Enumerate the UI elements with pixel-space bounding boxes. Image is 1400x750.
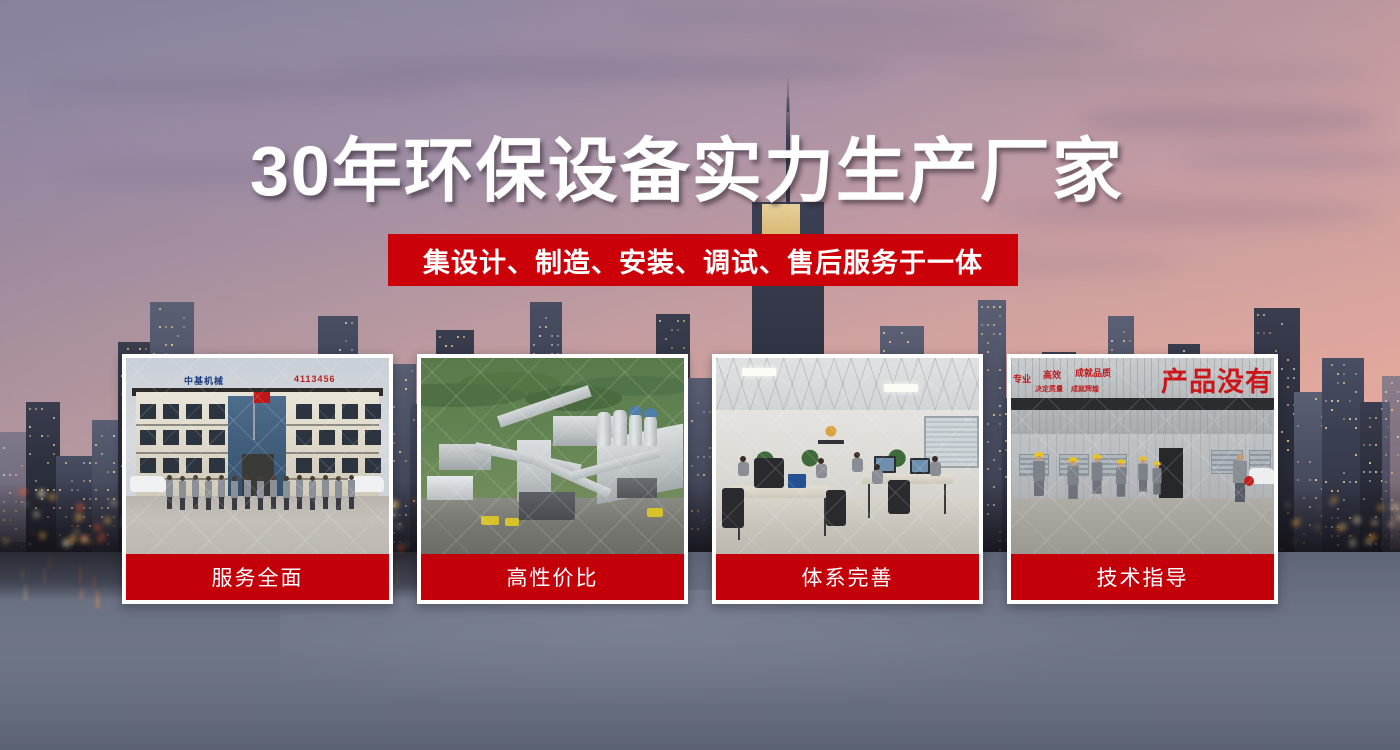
- ceiling-light: [742, 368, 776, 376]
- cloud-wisp: [780, 30, 1120, 56]
- silo-cap: [629, 406, 642, 415]
- cement-silo: [613, 410, 627, 446]
- office-worker: [852, 452, 863, 472]
- parked-car: [130, 476, 166, 492]
- feature-card[interactable]: 高性价比: [417, 354, 688, 604]
- factory-slogan-small: 决定质量: [1035, 384, 1063, 394]
- street-light-glow: [1389, 522, 1394, 527]
- plant-structure: [427, 476, 473, 500]
- cloud-wisp: [1080, 105, 1380, 135]
- factory-worker: [1067, 457, 1078, 499]
- loading-shed: [617, 478, 657, 498]
- street-light-glow: [1378, 505, 1383, 510]
- workshop-training-photo: 产品没有 专业 高效 成就品质 决定质量 成就辉煌: [1011, 358, 1274, 554]
- cloud-wisp: [950, 62, 1370, 84]
- street-light-glow: [1396, 515, 1400, 521]
- street-light-glow: [31, 532, 33, 534]
- monitor-screen: [912, 460, 928, 472]
- street-light-glow: [34, 512, 39, 517]
- red-helmet: [1244, 476, 1254, 486]
- facade-window-band: [1011, 398, 1274, 410]
- street-light-glow: [1292, 540, 1294, 542]
- street-light-glow: [1293, 520, 1299, 526]
- street-light-glow: [76, 514, 82, 520]
- feature-card[interactable]: 产品没有 专业 高效 成就品质 决定质量 成就辉煌: [1007, 354, 1278, 604]
- office-worker: [738, 456, 749, 476]
- window-row: [296, 430, 381, 445]
- street-light-glow: [50, 494, 56, 500]
- staff-member: [166, 475, 173, 509]
- street-light-glow: [95, 525, 100, 530]
- card-label-bar: 技术指导: [1011, 554, 1274, 600]
- cement-silo: [644, 416, 657, 446]
- factory-worker: [1092, 454, 1103, 494]
- water-sheen: [280, 590, 1180, 710]
- card-label-text: 技术指导: [1097, 562, 1189, 592]
- street-light-glow: [38, 490, 45, 497]
- street-light-glow: [4, 540, 8, 544]
- street-light-glow: [40, 533, 45, 538]
- laptop: [788, 474, 806, 488]
- staff-member: [296, 475, 303, 509]
- company-headquarters-photo: 中基机械 4113456: [126, 358, 389, 554]
- card-label-bar: 高性价比: [421, 554, 684, 600]
- feature-card[interactable]: 体系完善: [712, 354, 983, 604]
- staff-member: [283, 476, 290, 510]
- factory-worker: [1153, 462, 1162, 495]
- cloud-wisp: [620, 8, 1040, 28]
- street-light-glow: [1366, 539, 1371, 544]
- cloud-wisp: [330, 55, 890, 83]
- street-light-glow: [82, 537, 87, 542]
- wall-decal: [814, 420, 848, 448]
- factory-slogan-small: 专业: [1013, 372, 1031, 385]
- factory-slogan-small: 成就品质: [1075, 366, 1111, 379]
- staff-member: [270, 475, 277, 509]
- subtitle-bar: 集设计、制造、安装、调试、售后服务于一体: [388, 234, 1018, 286]
- zifeng-tower-part: [787, 76, 789, 112]
- silo-cap: [644, 408, 657, 417]
- office-chair: [888, 480, 910, 514]
- supervisor: [1233, 454, 1247, 502]
- card-label-bar: 体系完善: [716, 554, 979, 600]
- office-interior-photo: [716, 358, 979, 554]
- promo-banner: 30年环保设备实力生产厂家 集设计、制造、安装、调试、售后服务于一体: [0, 0, 1400, 750]
- factory-slogan-small: 高效: [1043, 368, 1061, 381]
- card-label-bar: 服务全面: [126, 554, 389, 600]
- cloud-wisp: [40, 75, 460, 97]
- factory-slogan-small: 成就辉煌: [1071, 384, 1099, 394]
- street-light-glow: [1372, 520, 1377, 525]
- street-light-glow: [1354, 517, 1360, 523]
- staff-member: [257, 476, 264, 510]
- page-title: 30年环保设备实力生产厂家: [250, 136, 1150, 206]
- street-light-glow: [76, 520, 78, 522]
- company-sign-text: 中基机械: [184, 374, 224, 387]
- factory-worker: [1033, 452, 1045, 496]
- yellow-loader: [647, 508, 663, 517]
- street-light-glow: [75, 530, 79, 534]
- loading-shed: [519, 492, 575, 520]
- street-light-glow: [70, 536, 76, 542]
- window-row: [140, 430, 225, 445]
- street-light-glow: [1338, 525, 1344, 531]
- office-worker: [816, 458, 827, 478]
- factory-worker: [1138, 456, 1148, 491]
- street-light-glow: [1352, 537, 1354, 539]
- street-light-glow: [105, 518, 110, 523]
- yellow-loader: [505, 518, 519, 526]
- window-row: [296, 458, 381, 473]
- cement-silo: [597, 412, 611, 446]
- subtitle-text: 集设计、制造、安装、调试、售后服务于一体: [423, 241, 983, 280]
- feature-card-row: 中基机械 4113456 服务全面: [122, 354, 1278, 604]
- street-light-glow: [1370, 535, 1374, 539]
- ceiling-grid: [716, 358, 979, 410]
- street-light-glow: [98, 537, 103, 542]
- staff-member: [322, 475, 329, 509]
- street-light-glow: [1330, 502, 1333, 505]
- office-floor: [716, 498, 979, 554]
- staff-member: [218, 475, 225, 509]
- factory-worker: [1116, 459, 1126, 496]
- desk-leg: [944, 484, 946, 514]
- window-row: [140, 458, 225, 473]
- office-chair: [722, 488, 744, 528]
- office-worker: [930, 456, 941, 476]
- staff-member: [179, 476, 186, 510]
- window-row: [296, 404, 381, 419]
- ceiling-light: [884, 384, 918, 392]
- street-light-glow: [25, 503, 27, 505]
- feature-card[interactable]: 中基机械 4113456 服务全面: [122, 354, 393, 604]
- street-light-glow: [20, 489, 26, 495]
- factory-slogan-large: 产品没有: [1161, 360, 1273, 399]
- office-chair: [826, 490, 846, 526]
- staff-member: [231, 476, 238, 510]
- factory-door: [1159, 448, 1183, 498]
- street-light-glow: [112, 501, 116, 505]
- card-label-text: 服务全面: [212, 562, 304, 592]
- staff-member: [348, 475, 355, 509]
- street-light-glow: [1316, 526, 1319, 529]
- staff-member: [244, 475, 251, 509]
- staff-member: [205, 476, 212, 510]
- office-chair: [754, 458, 784, 488]
- yellow-loader: [481, 516, 499, 525]
- street-light-glow: [1286, 504, 1289, 507]
- national-flag: [254, 392, 270, 403]
- street-light-glow: [1332, 497, 1337, 502]
- staff-member: [309, 476, 316, 510]
- window-row: [140, 404, 225, 419]
- card-label-text: 体系完善: [802, 562, 894, 592]
- aerial-plant-photo: [421, 358, 684, 554]
- office-worker: [872, 464, 883, 484]
- company-phone-text: 4113456: [294, 374, 336, 384]
- card-label-text: 高性价比: [507, 562, 599, 592]
- desk-leg: [868, 484, 870, 518]
- staff-member: [335, 476, 342, 510]
- cement-silo: [629, 414, 642, 446]
- street-light-glow: [1350, 541, 1355, 546]
- factory-yard: [1011, 498, 1274, 554]
- street-light-glow: [77, 504, 83, 510]
- street-light-glow: [1318, 506, 1320, 508]
- street-light-glow: [89, 540, 92, 543]
- street-light-glow: [1392, 504, 1398, 510]
- staff-member: [192, 475, 199, 509]
